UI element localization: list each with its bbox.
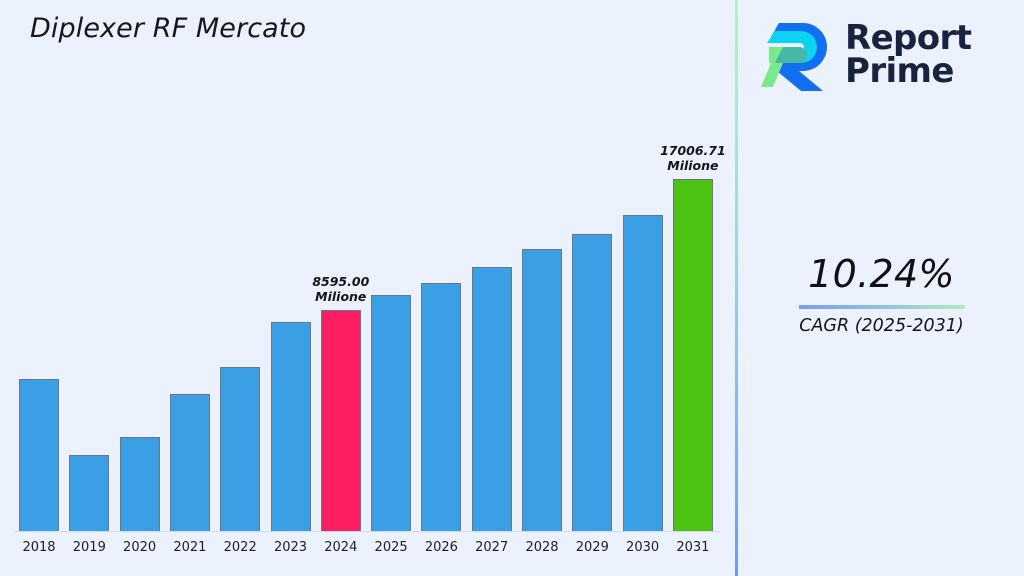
x-tick-2030: 2030 bbox=[626, 540, 659, 555]
summary-panel: Report Prime 10.24% CAGR (2025-2031) bbox=[739, 0, 1024, 576]
cagr-block: 10.24% CAGR (2025-2031) bbox=[739, 252, 1024, 336]
bar-2019[interactable] bbox=[69, 455, 109, 531]
bar-chart-plot: 2018201920202021202220238595.00Milione20… bbox=[0, 0, 736, 576]
cagr-caption: CAGR (2025-2031) bbox=[739, 316, 1024, 336]
x-tick-2023: 2023 bbox=[274, 540, 307, 555]
cagr-divider-rule bbox=[799, 305, 965, 309]
x-tick-2028: 2028 bbox=[525, 540, 558, 555]
bar-group-2028: 2028 bbox=[522, 249, 562, 531]
bar-2027[interactable] bbox=[472, 267, 512, 531]
bar-group-2026: 2026 bbox=[421, 283, 461, 531]
bar-group-2021: 2021 bbox=[170, 394, 210, 531]
x-tick-2018: 2018 bbox=[22, 540, 55, 555]
bar-value-unit-2024: Milione bbox=[312, 289, 369, 304]
x-tick-2022: 2022 bbox=[224, 540, 257, 555]
bar-group-2029: 2029 bbox=[572, 234, 612, 531]
bar-2022[interactable] bbox=[220, 367, 260, 531]
bar-value-unit-2031: Milione bbox=[660, 158, 726, 173]
bar-2028[interactable] bbox=[522, 249, 562, 531]
bar-2020[interactable] bbox=[120, 437, 160, 531]
report-prime-r-mark bbox=[761, 17, 833, 93]
bar-2023[interactable] bbox=[271, 322, 311, 531]
report-prime-logo[interactable]: Report Prime bbox=[761, 12, 1009, 98]
bar-group-2024: 8595.00Milione2024 bbox=[321, 310, 361, 531]
bar-2030[interactable] bbox=[623, 215, 663, 531]
bar-2018[interactable] bbox=[19, 379, 59, 531]
x-tick-2027: 2027 bbox=[475, 540, 508, 555]
bar-2021[interactable] bbox=[170, 394, 210, 531]
logo-wordmark: Report Prime bbox=[845, 22, 971, 88]
bar-group-2025: 2025 bbox=[371, 295, 411, 531]
bar-group-2027: 2027 bbox=[472, 267, 512, 531]
x-tick-2024: 2024 bbox=[324, 540, 357, 555]
logo-line-2: Prime bbox=[845, 55, 971, 88]
x-tick-2020: 2020 bbox=[123, 540, 156, 555]
bar-2026[interactable] bbox=[421, 283, 461, 531]
panel-divider bbox=[735, 0, 738, 576]
x-tick-2019: 2019 bbox=[73, 540, 106, 555]
bar-value-label-2024: 8595.00Milione bbox=[312, 274, 369, 305]
bar-group-2018: 2018 bbox=[19, 379, 59, 531]
x-tick-2021: 2021 bbox=[173, 540, 206, 555]
x-tick-2025: 2025 bbox=[375, 540, 408, 555]
bar-2031[interactable] bbox=[673, 179, 713, 531]
bar-group-2019: 2019 bbox=[69, 455, 109, 531]
bar-group-2020: 2020 bbox=[120, 437, 160, 531]
x-tick-2026: 2026 bbox=[425, 540, 458, 555]
bar-2024[interactable] bbox=[321, 310, 361, 531]
bar-2025[interactable] bbox=[371, 295, 411, 531]
x-tick-2029: 2029 bbox=[576, 540, 609, 555]
bar-group-2022: 2022 bbox=[220, 367, 260, 531]
bar-value-label-2031: 17006.71Milione bbox=[660, 143, 726, 174]
chart-panel: Diplexer RF Mercato 20182019202020212022… bbox=[0, 0, 736, 576]
chart-page: Diplexer RF Mercato 20182019202020212022… bbox=[0, 0, 1024, 576]
bar-group-2030: 2030 bbox=[623, 215, 663, 531]
bar-group-2023: 2023 bbox=[271, 322, 311, 531]
cagr-value: 10.24% bbox=[739, 252, 1024, 296]
x-axis-line bbox=[14, 531, 720, 532]
bar-2029[interactable] bbox=[572, 234, 612, 531]
bar-group-2031: 17006.71Milione2031 bbox=[673, 179, 713, 531]
x-tick-2031: 2031 bbox=[676, 540, 709, 555]
